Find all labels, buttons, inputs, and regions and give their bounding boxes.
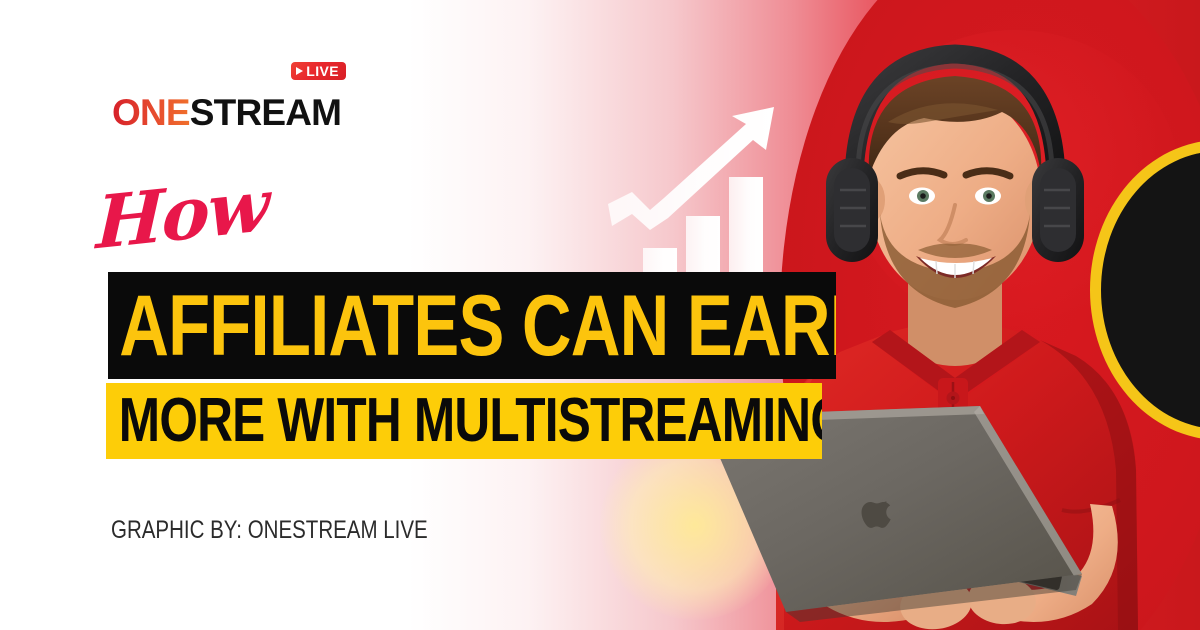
- graphic-credit: GRAPHIC BY: ONESTREAM LIVE: [111, 516, 428, 545]
- play-icon: [296, 67, 303, 75]
- headline-bar-primary: AFFILIATES CAN EARN: [108, 272, 836, 379]
- poster-canvas: LIVE ONESTREAM: [0, 0, 1200, 630]
- logo-wordmark: ONESTREAM: [112, 94, 362, 131]
- live-badge-label: LIVE: [306, 64, 339, 78]
- logo-one-text: ONE: [112, 92, 190, 133]
- script-how-text: How: [95, 169, 269, 260]
- headline-bar-secondary: MORE WITH MULTISTREAMING: [106, 383, 822, 459]
- logo-stream-text: STREAM: [190, 92, 341, 133]
- onestream-live-logo[interactable]: LIVE ONESTREAM: [112, 78, 362, 131]
- live-badge: LIVE: [291, 62, 346, 80]
- headline-line-1: AFFILIATES CAN EARN: [108, 283, 836, 369]
- headline-line-2: MORE WITH MULTISTREAMING: [106, 390, 822, 452]
